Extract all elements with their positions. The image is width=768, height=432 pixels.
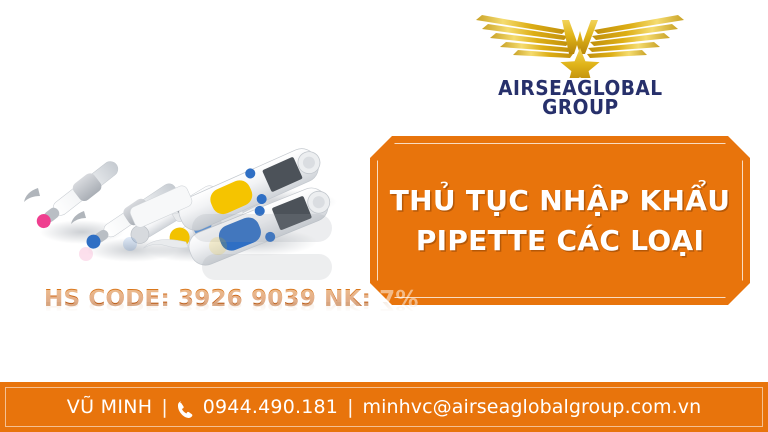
page-title-line2: PIPETTE CÁC LOẠI (390, 221, 731, 261)
title-banner: THỦ TỤC NHẬP KHẨU PIPETTE CÁC LOẠI (370, 136, 750, 305)
logo-wordmark: AIRSEAGLOBAL GROUP (492, 79, 669, 116)
footer-contact-content: VŨ MINH | 0944.490.181 | minhvc@airseagl… (67, 396, 701, 418)
poster-canvas: AIRSEAGLOBAL GROUP (0, 0, 768, 432)
contact-name: VŨ MINH (67, 396, 153, 418)
page-title: THỦ TỤC NHẬP KHẨU PIPETTE CÁC LOẠI (380, 181, 741, 261)
hs-code-text: HS CODE: 3926 9039 NK: 7% (44, 286, 374, 312)
phone-icon (177, 400, 194, 419)
winged-star-emblem-icon (470, 4, 690, 78)
contact-phone[interactable]: 0944.490.181 (203, 396, 338, 418)
hs-code-block: HS CODE: 3926 9039 NK: 7% HS CODE: 3926 … (44, 286, 374, 336)
company-logo: AIRSEAGLOBAL GROUP (430, 4, 730, 126)
page-title-line1: THỦ TỤC NHẬP KHẨU (390, 181, 731, 221)
contact-email[interactable]: minhvc@airseaglobalgroup.com.vn (363, 396, 702, 418)
laboratory-pipettes-photo (22, 92, 362, 282)
footer-separator-1: | (161, 396, 167, 418)
footer-separator-2: | (347, 396, 353, 418)
contact-footer-bar: VŨ MINH | 0944.490.181 | minhvc@airseagl… (0, 382, 768, 432)
logo-wordmark-line2: GROUP (498, 98, 662, 117)
